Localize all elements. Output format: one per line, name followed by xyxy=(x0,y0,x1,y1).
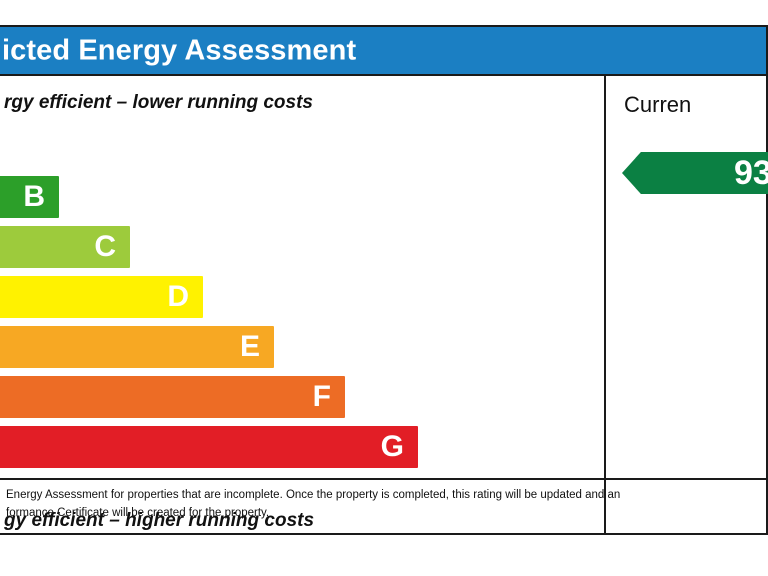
band-letter-d: D xyxy=(167,282,189,312)
current-rating-value: 93 xyxy=(734,156,768,190)
band-bar-f: F xyxy=(0,376,345,418)
band-bar-b: B xyxy=(0,176,59,218)
band-letter-g: G xyxy=(381,432,404,462)
footer-line-1: Energy Assessment for properties that ar… xyxy=(6,487,758,505)
band-bar-g: G xyxy=(0,426,418,468)
current-rating-column: Curren 93 xyxy=(606,76,766,533)
band-bar-d: D xyxy=(0,276,203,318)
title-banner: icted Energy Assessment xyxy=(0,27,766,76)
certificate-body: rgy efficient – lower running costs A B … xyxy=(0,76,766,533)
band-letter-e: E xyxy=(240,332,260,362)
epc-certificate-frame: icted Energy Assessment rgy efficient – … xyxy=(0,25,768,535)
band-letter-b: B xyxy=(23,182,45,212)
band-letter-f: F xyxy=(313,382,331,412)
page-title: icted Energy Assessment xyxy=(2,34,356,67)
current-rating-arrow: 93 xyxy=(622,152,768,194)
band-letter-c: C xyxy=(94,232,116,262)
footer-disclaimer: Energy Assessment for properties that ar… xyxy=(0,478,766,533)
current-rating-heading: Curren xyxy=(624,92,691,118)
footer-line-2: formance Certificate will be created for… xyxy=(6,505,758,523)
energy-efficiency-chart: rgy efficient – lower running costs A B … xyxy=(0,76,604,533)
band-bar-e: E xyxy=(0,326,274,368)
band-bar-c: C xyxy=(0,226,130,268)
caption-lower-running-costs: rgy efficient – lower running costs xyxy=(4,92,313,114)
